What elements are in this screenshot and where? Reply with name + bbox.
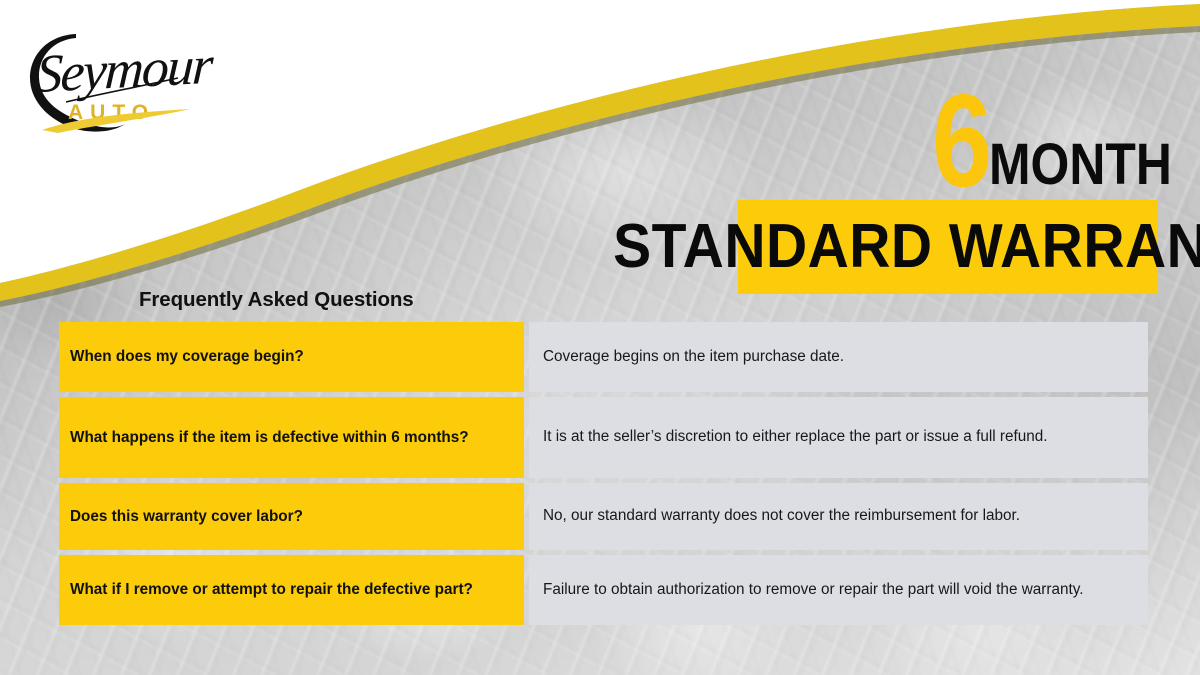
faq-answer-cell: Failure to obtain authorization to remov… <box>529 555 1148 625</box>
faq-question-cell: What happens if the item is defective wi… <box>59 397 524 478</box>
faq-answer-text: It is at the seller’s discretion to eith… <box>543 427 1133 447</box>
seymour-auto-logo: Seymour AUTO <box>22 24 237 136</box>
faq-row: What happens if the item is defective wi… <box>59 397 1148 478</box>
duration-unit: MONTH <box>989 141 1172 189</box>
faq-row: What if I remove or attempt to repair th… <box>59 555 1148 625</box>
faq-row: Does this warranty cover labor? No, our … <box>59 483 1148 550</box>
standard-warranty-title: STANDARD WARRANTY <box>613 216 1200 278</box>
faq-answer-text: Coverage begins on the item purchase dat… <box>543 347 1133 367</box>
faq-answer-cell: Coverage begins on the item purchase dat… <box>529 322 1148 392</box>
faq-table: When does my coverage begin? Coverage be… <box>59 322 1148 625</box>
duration-number: 6 <box>932 90 991 193</box>
faq-question-text: When does my coverage begin? <box>70 347 304 367</box>
faq-answer-cell: It is at the seller’s discretion to eith… <box>529 397 1148 478</box>
duration-headline: 6 MONTH <box>900 78 1170 193</box>
faq-row: When does my coverage begin? Coverage be… <box>59 322 1148 392</box>
standard-warranty-banner: STANDARD WARRANTY <box>738 200 1158 294</box>
warranty-slide: Seymour AUTO 6 MONTH STANDARD WARRANTY F… <box>0 0 1200 675</box>
faq-answer-cell: No, our standard warranty does not cover… <box>529 483 1148 550</box>
faq-question-cell: What if I remove or attempt to repair th… <box>59 555 524 625</box>
faq-question-cell: When does my coverage begin? <box>59 322 524 392</box>
faq-answer-text: No, our standard warranty does not cover… <box>543 506 1133 526</box>
faq-heading: Frequently Asked Questions <box>139 288 414 312</box>
faq-question-cell: Does this warranty cover labor? <box>59 483 524 550</box>
faq-question-text: What happens if the item is defective wi… <box>70 428 469 448</box>
faq-answer-text: Failure to obtain authorization to remov… <box>543 580 1133 600</box>
svg-text:Seymour: Seymour <box>34 35 216 104</box>
faq-question-text: Does this warranty cover labor? <box>70 507 303 527</box>
faq-question-text: What if I remove or attempt to repair th… <box>70 580 473 600</box>
